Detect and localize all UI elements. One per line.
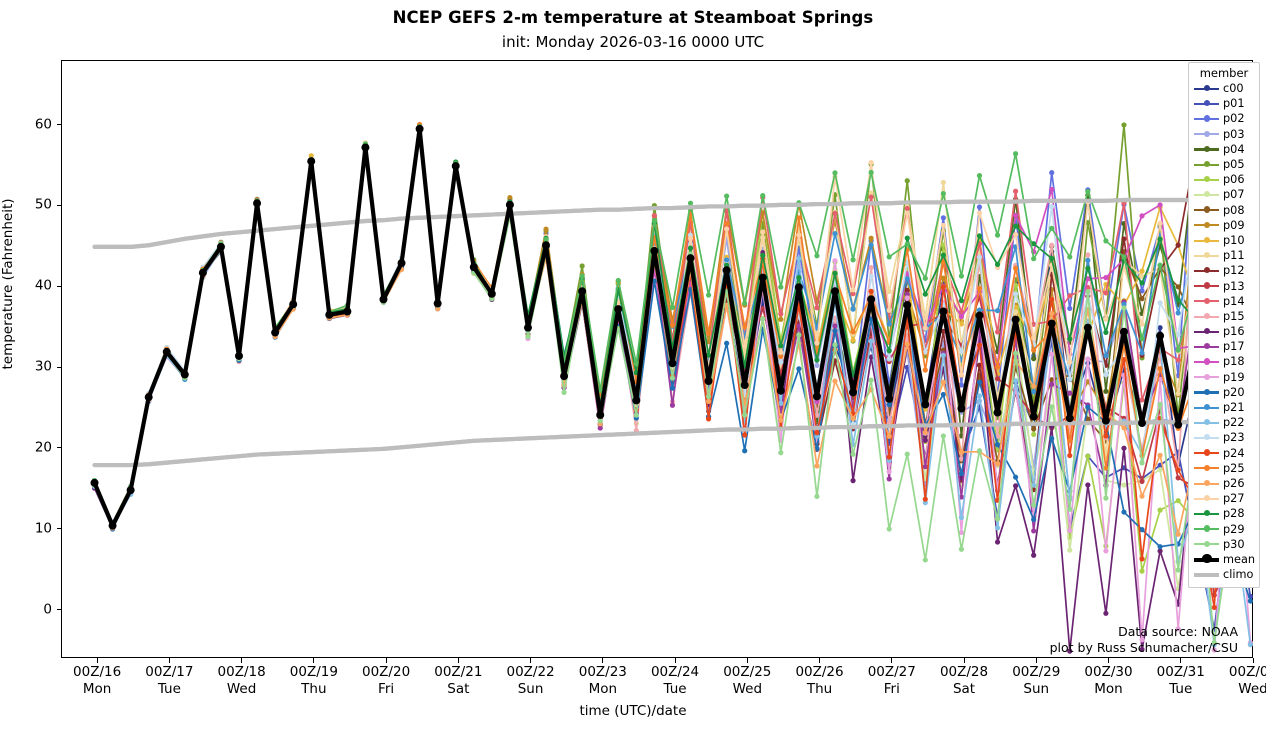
x-tick-day: Wed: [1208, 681, 1266, 698]
legend-item-p29[interactable]: p29: [1194, 521, 1254, 536]
legend-item-p12[interactable]: p12: [1194, 263, 1254, 278]
legend-marker-dot-icon: [1204, 510, 1210, 516]
legend-marker-dot-icon: [1204, 480, 1210, 486]
credit-source: Data source: NOAA: [1050, 624, 1238, 640]
legend-marker-dot-icon: [1204, 100, 1210, 106]
legend[interactable]: member c00p01p02p03p04p05p06p07p08p09p10…: [1188, 62, 1260, 588]
x-tick-mark: [964, 658, 965, 663]
legend-label: p10: [1223, 234, 1245, 247]
y-tick-label: 30: [18, 359, 52, 375]
legend-marker-dot-icon: [1204, 389, 1210, 395]
legend-marker-dot-icon: [1204, 404, 1210, 410]
legend-label: p28: [1223, 507, 1245, 520]
legend-item-p19[interactable]: p19: [1194, 370, 1254, 385]
legend-swatch-icon: [1194, 448, 1219, 459]
legend-label: p23: [1223, 431, 1245, 444]
climo-line-top-climo-high: [95, 200, 1251, 247]
y-tick-mark: [57, 205, 62, 206]
legend-item-p17[interactable]: p17: [1194, 339, 1254, 354]
legend-item-p27[interactable]: p27: [1194, 491, 1254, 506]
x-tick-mark: [1108, 658, 1109, 663]
legend-swatch-icon: [1194, 281, 1219, 292]
legend-swatch-icon: [1194, 265, 1219, 276]
legend-item-p20[interactable]: p20: [1194, 385, 1254, 400]
y-tick-label: 10: [18, 520, 52, 536]
legend-swatch-icon: [1194, 189, 1219, 200]
legend-line: [1194, 573, 1219, 577]
legend-swatch-icon: [1194, 402, 1219, 413]
legend-item-c00[interactable]: c00: [1194, 81, 1254, 96]
y-tick-label: 0: [18, 601, 52, 617]
legend-label: p27: [1223, 492, 1245, 505]
legend-swatch-icon: [1194, 341, 1219, 352]
x-tick-mark: [530, 658, 531, 663]
legend-marker-dot-icon: [1204, 161, 1210, 167]
legend-label: p12: [1223, 264, 1245, 277]
y-axis-label: temperature (Fahrenheit): [0, 0, 18, 598]
legend-label: p17: [1223, 340, 1245, 353]
legend-marker-dot-icon: [1204, 146, 1210, 152]
legend-label: p18: [1223, 355, 1245, 368]
legend-marker-dot-icon: [1204, 298, 1210, 304]
legend-item-p10[interactable]: p10: [1194, 233, 1254, 248]
legend-item-p23[interactable]: p23: [1194, 430, 1254, 445]
legend-swatch-icon: [1194, 296, 1219, 307]
legend-marker-dot-icon: [1204, 541, 1210, 547]
legend-label: p04: [1223, 143, 1245, 156]
legend-item-p07[interactable]: p07: [1194, 187, 1254, 202]
legend-marker-dot-icon: [1204, 267, 1210, 273]
ensemble-spaghetti-plot: [62, 61, 1254, 659]
legend-label: p02: [1223, 112, 1245, 125]
member-line-p15: [92, 129, 1253, 530]
legend-label: p22: [1223, 416, 1245, 429]
legend-marker-dot-icon: [1204, 237, 1210, 243]
legend-swatch-icon: [1194, 356, 1219, 367]
legend-label: mean: [1223, 553, 1255, 566]
legend-item-p21[interactable]: p21: [1194, 400, 1254, 415]
legend-swatch-icon: [1194, 174, 1219, 185]
legend-swatch-icon: [1194, 235, 1219, 246]
legend-swatch-icon: [1194, 569, 1219, 580]
legend-marker-dot-icon: [1204, 313, 1210, 319]
y-tick-label: 50: [18, 197, 52, 213]
legend-item-p30[interactable]: p30: [1194, 537, 1254, 552]
legend-marker-dot-icon: [1204, 374, 1210, 380]
legend-item-p26[interactable]: p26: [1194, 476, 1254, 491]
legend-marker-dot-icon: [1204, 434, 1210, 440]
legend-swatch-icon: [1194, 372, 1219, 383]
legend-label: p05: [1223, 158, 1245, 171]
legend-item-p22[interactable]: p22: [1194, 415, 1254, 430]
legend-swatch-icon: [1194, 250, 1219, 261]
legend-item-p11[interactable]: p11: [1194, 248, 1254, 263]
legend-label: p09: [1223, 219, 1245, 232]
legend-item-p08[interactable]: p08: [1194, 203, 1254, 218]
legend-marker-dot-icon: [1204, 328, 1210, 334]
legend-marker-dot-icon: [1204, 115, 1210, 121]
x-tick-label: 00Z/01Wed: [1208, 664, 1266, 698]
legend-title: member: [1194, 67, 1254, 80]
x-tick-mark: [458, 658, 459, 663]
legend-item-p13[interactable]: p13: [1194, 278, 1254, 293]
legend-marker-dot-icon: [1204, 495, 1210, 501]
x-tick-mark: [891, 658, 892, 663]
legend-item-p24[interactable]: p24: [1194, 446, 1254, 461]
legend-swatch-icon: [1194, 98, 1219, 109]
legend-marker-dot-icon: [1204, 449, 1210, 455]
legend-label: p14: [1223, 295, 1245, 308]
legend-rows: c00p01p02p03p04p05p06p07p08p09p10p11p12p…: [1194, 81, 1254, 582]
legend-item-p09[interactable]: p09: [1194, 218, 1254, 233]
legend-item-p05[interactable]: p05: [1194, 157, 1254, 172]
legend-item-p06[interactable]: p06: [1194, 172, 1254, 187]
x-tick-mark: [1036, 658, 1037, 663]
legend-marker-dot-icon: [1204, 252, 1210, 258]
legend-item-p04[interactable]: p04: [1194, 142, 1254, 157]
credit-author: plot by Russ Schumacher/CSU: [1050, 640, 1238, 656]
y-tick-mark: [57, 609, 62, 610]
legend-swatch-icon: [1194, 493, 1219, 504]
x-tick-mark: [819, 658, 820, 663]
legend-item-p02[interactable]: p02: [1194, 111, 1254, 126]
legend-item-p01[interactable]: p01: [1194, 96, 1254, 111]
legend-label: climo: [1223, 568, 1253, 581]
legend-swatch-icon: [1194, 205, 1219, 216]
legend-label: p26: [1223, 477, 1245, 490]
credit-block: Data source: NOAA plot by Russ Schumache…: [1050, 624, 1238, 656]
legend-swatch-icon: [1194, 144, 1219, 155]
legend-label: p01: [1223, 97, 1245, 110]
legend-label: p11: [1223, 249, 1245, 262]
legend-swatch-icon: [1194, 311, 1219, 322]
y-tick-mark: [57, 124, 62, 125]
legend-swatch-icon: [1194, 113, 1219, 124]
legend-marker-dot-icon: [1204, 206, 1210, 212]
legend-label: p15: [1223, 310, 1245, 323]
x-tick-mark: [747, 658, 748, 663]
legend-marker-dot-icon: [1204, 358, 1210, 364]
legend-marker-dot-icon: [1204, 222, 1210, 228]
legend-marker-dot-icon: [1204, 191, 1210, 197]
legend-swatch-icon: [1194, 387, 1219, 398]
legend-swatch-icon: [1194, 478, 1219, 489]
legend-marker-dot-icon: [1204, 85, 1210, 91]
x-tick-mark: [241, 658, 242, 663]
legend-swatch-icon: [1194, 417, 1219, 428]
legend-swatch-icon: [1194, 159, 1219, 170]
legend-label: p25: [1223, 462, 1245, 475]
y-tick-label: 60: [18, 116, 52, 132]
legend-marker-dot-icon: [1204, 419, 1210, 425]
x-tick-mark: [97, 658, 98, 663]
legend-label: p19: [1223, 371, 1245, 384]
y-tick-mark: [57, 528, 62, 529]
legend-item-p03[interactable]: p03: [1194, 127, 1254, 142]
x-tick-mark: [1253, 658, 1254, 663]
legend-swatch-icon: [1194, 463, 1219, 474]
legend-label: p08: [1223, 204, 1245, 217]
x-tick-mark: [169, 658, 170, 663]
x-tick-mark: [313, 658, 314, 663]
plot-area: [61, 60, 1253, 658]
page-title: NCEP GEFS 2-m temperature at Steamboat S…: [0, 8, 1266, 27]
legend-marker-dot-icon: [1204, 343, 1210, 349]
legend-label: p20: [1223, 386, 1245, 399]
legend-label: p29: [1223, 523, 1245, 536]
legend-swatch-icon: [1194, 83, 1219, 94]
x-tick-mark: [1180, 658, 1181, 663]
x-tick-date: 00Z/01: [1208, 664, 1266, 681]
legend-label: p06: [1223, 173, 1245, 186]
legend-item-p25[interactable]: p25: [1194, 461, 1254, 476]
x-tick-mark: [386, 658, 387, 663]
y-tick-label: 20: [18, 439, 52, 455]
y-tick-mark: [57, 286, 62, 287]
legend-swatch-icon: [1194, 220, 1219, 231]
y-tick-mark: [57, 447, 62, 448]
legend-marker-dot-icon: [1202, 554, 1211, 563]
legend-swatch-icon: [1194, 129, 1219, 140]
legend-label: p03: [1223, 128, 1245, 141]
legend-swatch-icon: [1194, 432, 1219, 443]
legend-item-p28[interactable]: p28: [1194, 506, 1254, 521]
legend-item-p16[interactable]: p16: [1194, 324, 1254, 339]
legend-label: p13: [1223, 280, 1245, 293]
member-line-c00: [92, 128, 1253, 531]
legend-swatch-icon: [1194, 539, 1219, 550]
legend-marker-dot-icon: [1204, 282, 1210, 288]
legend-swatch-icon: [1194, 524, 1219, 535]
legend-swatch-icon: [1194, 508, 1219, 519]
legend-label: p30: [1223, 538, 1245, 551]
legend-label: p21: [1223, 401, 1245, 414]
x-axis-label: time (UTC)/date: [0, 703, 1266, 719]
chart-subtitle: init: Monday 2026-03-16 0000 UTC: [0, 33, 1266, 51]
y-tick-mark: [57, 367, 62, 368]
x-tick-mark: [675, 658, 676, 663]
x-tick-mark: [602, 658, 603, 663]
legend-item-p14[interactable]: p14: [1194, 294, 1254, 309]
legend-item-p15[interactable]: p15: [1194, 309, 1254, 324]
legend-item-p18[interactable]: p18: [1194, 354, 1254, 369]
legend-swatch-icon: [1194, 554, 1219, 565]
y-tick-label: 40: [18, 278, 52, 294]
legend-marker-dot-icon: [1204, 131, 1210, 137]
legend-label: p07: [1223, 188, 1245, 201]
legend-label: p24: [1223, 447, 1245, 460]
legend-marker-dot-icon: [1204, 525, 1210, 531]
legend-item-climo[interactable]: climo: [1194, 567, 1254, 582]
member-line-p08: [92, 128, 1253, 531]
legend-item-mean[interactable]: mean: [1194, 552, 1254, 567]
legend-marker-dot-icon: [1204, 176, 1210, 182]
legend-swatch-icon: [1194, 326, 1219, 337]
legend-marker-dot-icon: [1204, 465, 1210, 471]
legend-label: p16: [1223, 325, 1245, 338]
legend-label: c00: [1223, 82, 1244, 95]
